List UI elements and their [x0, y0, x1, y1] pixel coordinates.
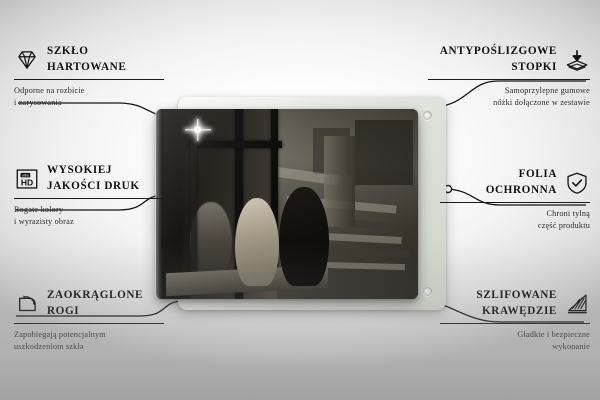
- ultra-hd-icon: ultra HD: [14, 166, 40, 192]
- feature-title-line2: STOPKI: [428, 60, 557, 76]
- feature-divider: [14, 323, 164, 325]
- feature-folia-ochronna[interactable]: FOLIA OCHRONNA Chroni tylną część produk…: [440, 167, 590, 232]
- feature-header: ultra HD WYSOKIEJ JAKOŚCI DRUK: [14, 163, 164, 195]
- mounting-hole-bottom-right: [423, 287, 432, 296]
- feature-title-line2: JAKOŚCI DRUK: [47, 179, 164, 195]
- feature-szlifowane-krawedzie[interactable]: SZLIFOWANE KRAWĘDZIE Gładkie i bezpieczn…: [440, 288, 590, 353]
- feature-divider: [428, 79, 590, 81]
- feature-szklo-hartowane[interactable]: SZKŁO HARTOWANE Odporne na rozbicie i za…: [14, 44, 164, 109]
- feature-description: Gładkie i bezpieczne wykonanie: [440, 329, 590, 353]
- infographic-canvas: SZKŁO HARTOWANE Odporne na rozbicie i za…: [0, 0, 600, 400]
- feature-header: SZKŁO HARTOWANE: [14, 44, 164, 76]
- feature-title: SZKŁO HARTOWANE: [47, 44, 164, 76]
- rounded-corner-icon: [14, 291, 40, 317]
- feature-divider: [440, 323, 590, 325]
- feature-title-line2: KRAWĘDZIE: [440, 304, 557, 320]
- feature-divider: [440, 202, 590, 204]
- feature-description: Samoprzylepne gumowe nóżki dołączone w z…: [428, 85, 590, 109]
- feature-title: ANTYPOŚLIZGOWE STOPKI: [428, 44, 557, 76]
- feature-header: ANTYPOŚLIZGOWE STOPKI: [428, 44, 590, 76]
- printed-photo-panel: [156, 109, 418, 299]
- feature-title-line2: ROGI: [47, 304, 164, 320]
- feature-divider: [14, 79, 164, 81]
- feature-title-line1: ANTYPOŚLIZGOWE: [428, 44, 557, 60]
- feature-header: SZLIFOWANE KRAWĘDZIE: [440, 288, 590, 320]
- feature-title-line1: ZAOKRĄGLONE: [47, 288, 164, 304]
- svg-text:HD: HD: [21, 178, 33, 188]
- feature-description: Chroni tylną część produktu: [440, 208, 590, 232]
- feature-description: Odporne na rozbicie i zarysowania: [14, 85, 164, 109]
- feature-description: Bogate kolory i wyrazisty obraz: [14, 204, 164, 228]
- rubber-foot-icon: [564, 47, 590, 73]
- cats-window-photograph: [156, 109, 418, 299]
- feature-title-line1: SZKŁO: [47, 44, 164, 60]
- feature-title-line1: FOLIA: [440, 167, 557, 183]
- feature-title: FOLIA OCHRONNA: [440, 167, 557, 199]
- shield-check-icon: [564, 170, 590, 196]
- feature-title: SZLIFOWANE KRAWĘDZIE: [440, 288, 557, 320]
- feature-header: FOLIA OCHRONNA: [440, 167, 590, 199]
- svg-text:ultra: ultra: [22, 173, 29, 177]
- feature-wysokiej-jakosci-druk[interactable]: ultra HD WYSOKIEJ JAKOŚCI DRUK Bogate ko…: [14, 163, 164, 228]
- feature-description: Zapobiegają potencjalnym uszkodzeniom sz…: [14, 329, 164, 353]
- product-glass-panel: [156, 97, 446, 310]
- feature-antyposlizgowe-stopki[interactable]: ANTYPOŚLIZGOWE STOPKI Samoprzylepne gumo…: [428, 44, 590, 109]
- feature-zaokraglone-rogi[interactable]: ZAOKRĄGLONE ROGI Zapobiegają potencjalny…: [14, 288, 164, 353]
- diamond-icon: [14, 47, 40, 73]
- feature-title-line1: SZLIFOWANE: [440, 288, 557, 304]
- polished-edge-icon: [564, 291, 590, 317]
- mounting-hole-top-right: [423, 111, 432, 120]
- feature-divider: [14, 198, 164, 200]
- feature-title-line1: WYSOKIEJ: [47, 163, 164, 179]
- feature-header: ZAOKRĄGLONE ROGI: [14, 288, 164, 320]
- feature-title-line2: OCHRONNA: [440, 183, 557, 199]
- feature-title-line2: HARTOWANE: [47, 60, 164, 76]
- feature-title: ZAOKRĄGLONE ROGI: [47, 288, 164, 320]
- feature-title: WYSOKIEJ JAKOŚCI DRUK: [47, 163, 164, 195]
